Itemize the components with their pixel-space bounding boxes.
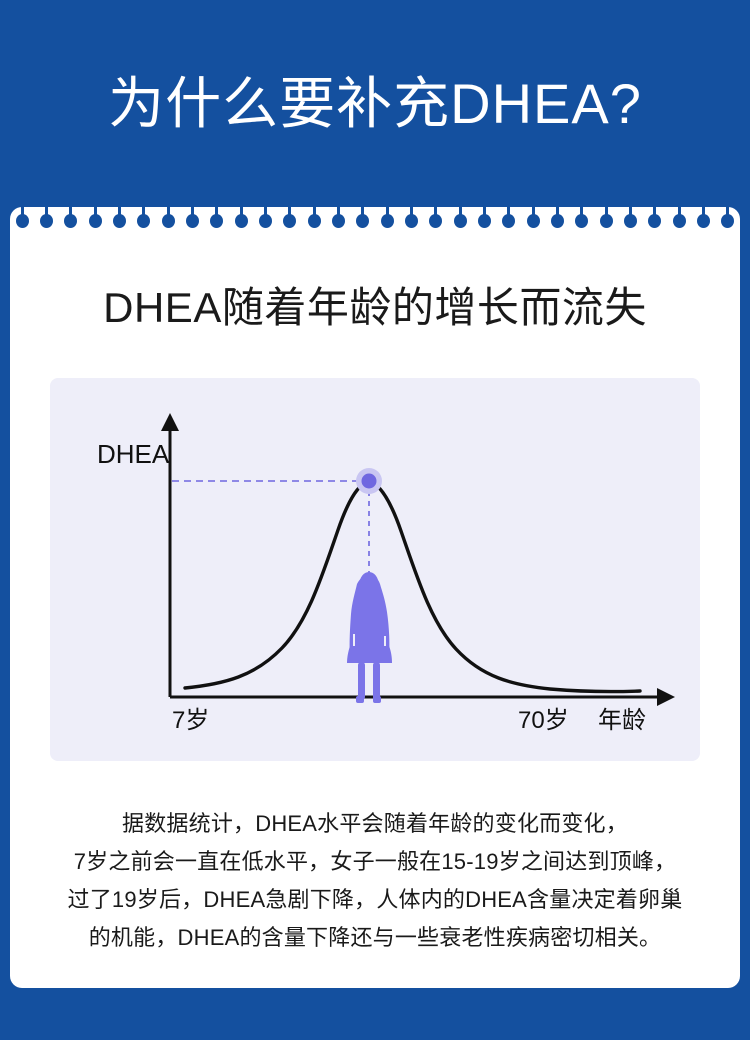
peak-marker-dot[interactable] xyxy=(362,474,377,489)
description-line-4: 的机能，DHEA的含量下降还与一些衰老性疾病密切相关。 xyxy=(32,919,718,957)
description-line-2: 7岁之前会一直在低水平，女子一般在15-19岁之间达到顶峰， xyxy=(32,843,718,881)
x-tick-label-start: 7岁 xyxy=(172,707,209,734)
x-tick-label-end: 70岁 xyxy=(518,707,569,734)
content-card: DHEA随着年龄的增长而流失 xyxy=(10,207,740,988)
description-line-3: 过了19岁后，DHEA急剧下降，人体内的DHEA含量决定着卵巢 xyxy=(32,881,718,919)
dhea-age-curve-chart: DHEA 7岁 70岁 年龄 xyxy=(50,378,700,761)
y-axis-label: DHEA xyxy=(97,439,170,469)
card-heading: DHEA随着年龄的增长而流失 xyxy=(10,274,740,335)
page-title: 为什么要补充DHEA? xyxy=(108,76,642,132)
female-silhouette-icon xyxy=(347,572,392,703)
description-paragraph: 据数据统计，DHEA水平会随着年龄的变化而变化， 7岁之前会一直在低水平，女子一… xyxy=(32,805,718,957)
description-line-1: 据数据统计，DHEA水平会随着年龄的变化而变化， xyxy=(32,805,718,843)
header-band: 为什么要补充DHEA? xyxy=(0,0,750,208)
chart-panel: DHEA 7岁 70岁 年龄 xyxy=(50,378,700,761)
dhea-curve xyxy=(185,481,640,692)
x-axis-label: 年龄 xyxy=(598,707,646,734)
